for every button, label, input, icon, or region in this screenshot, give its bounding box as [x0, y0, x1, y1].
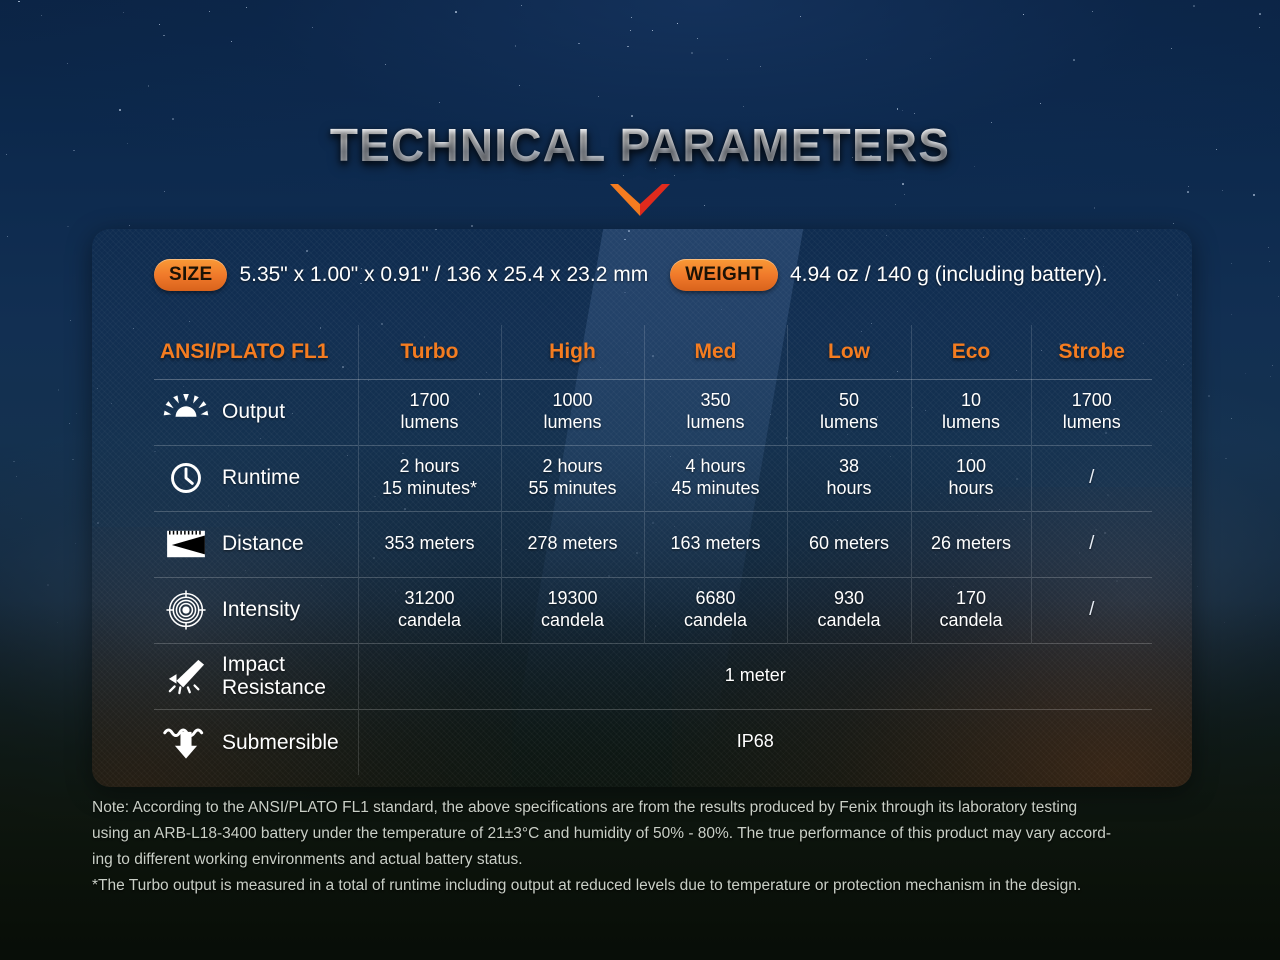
table-header-row: ANSI/PLATO FL1 Turbo High Med Low Eco St… [154, 325, 1152, 379]
row-value-cell: 930candela [787, 577, 911, 643]
row-value-cell: 1000lumens [501, 379, 644, 445]
row-value-cell: 50lumens [787, 379, 911, 445]
impact-drop-icon [162, 656, 210, 696]
footnote-line-3: ing to different working environments an… [92, 847, 1204, 873]
row-span-value: IP68 [358, 709, 1152, 775]
size-weight-strip: SIZE 5.35" x 1.00" x 0.91" / 136 x 25.4 … [92, 229, 1192, 321]
clock-icon [162, 458, 210, 498]
row-label-cell: ImpactResistance [154, 643, 358, 709]
sunburst-icon [162, 392, 210, 432]
footnote-line-1: Note: According to the ANSI/PLATO FL1 st… [92, 795, 1204, 821]
row-value-cell: 60 meters [787, 511, 911, 577]
row-value-cell: 1700lumens [358, 379, 501, 445]
footnote-line-4: *The Turbo output is measured in a total… [92, 873, 1204, 899]
row-label-text: Output [222, 400, 285, 423]
table-row: Intensity31200candela19300candela6680can… [154, 577, 1152, 643]
row-value-cell: 4 hours45 minutes [644, 445, 787, 511]
row-label-cell: Output [154, 379, 358, 445]
target-intensity-icon [162, 590, 210, 630]
row-value-cell: 6680candela [644, 577, 787, 643]
page-title: TECHNICAL PARAMETERS [0, 118, 1280, 172]
row-label-cell: Intensity [154, 577, 358, 643]
row-label-cell: Runtime [154, 445, 358, 511]
row-value-cell: 1700lumens [1031, 379, 1152, 445]
row-value-cell: 2 hours55 minutes [501, 445, 644, 511]
row-value-cell: 353 meters [358, 511, 501, 577]
column-header-standard: ANSI/PLATO FL1 [154, 325, 358, 379]
table-row: Runtime2 hours15 minutes*2 hours55 minut… [154, 445, 1152, 511]
row-label-text: ImpactResistance [222, 653, 326, 699]
row-label-text: Distance [222, 532, 304, 555]
row-value-empty: / [1031, 445, 1152, 511]
footnote-line-2: using an ARB-L18-3400 battery under the … [92, 821, 1204, 847]
row-label-text: Runtime [222, 466, 300, 489]
row-span-value: 1 meter [358, 643, 1152, 709]
row-label-cell: Distance [154, 511, 358, 577]
table-row: ImpactResistance1 meter [154, 643, 1152, 709]
row-value-cell: 19300candela [501, 577, 644, 643]
column-header-strobe: Strobe [1031, 325, 1152, 379]
table-row: Distance353 meters278 meters163 meters60… [154, 511, 1152, 577]
table-body: Output1700lumens1000lumens350lumens50lum… [154, 379, 1152, 775]
row-value-cell: 38hours [787, 445, 911, 511]
row-value-cell: 10lumens [911, 379, 1031, 445]
row-value-cell: 100hours [911, 445, 1031, 511]
row-label-text: Intensity [222, 598, 300, 621]
row-value-cell: 31200candela [358, 577, 501, 643]
column-header-eco: Eco [911, 325, 1031, 379]
size-value: 5.35" x 1.00" x 0.91" / 136 x 25.4 x 23.… [239, 263, 648, 287]
column-header-med: Med [644, 325, 787, 379]
column-header-turbo: Turbo [358, 325, 501, 379]
row-value-cell: 26 meters [911, 511, 1031, 577]
table-row: Output1700lumens1000lumens350lumens50lum… [154, 379, 1152, 445]
column-header-low: Low [787, 325, 911, 379]
size-badge: SIZE [154, 259, 227, 291]
column-header-high: High [501, 325, 644, 379]
weight-value: 4.94 oz / 140 g (including battery). [790, 263, 1108, 287]
footnotes: Note: According to the ANSI/PLATO FL1 st… [92, 795, 1204, 899]
row-value-cell: 170candela [911, 577, 1031, 643]
row-value-cell: 350lumens [644, 379, 787, 445]
table-row: SubmersibleIP68 [154, 709, 1152, 775]
weight-badge: WEIGHT [670, 259, 778, 291]
row-value-empty: / [1031, 577, 1152, 643]
row-label-cell: Submersible [154, 709, 358, 775]
row-value-cell: 278 meters [501, 511, 644, 577]
submersible-icon [162, 722, 210, 762]
row-value-cell: 163 meters [644, 511, 787, 577]
row-label-text: Submersible [222, 731, 339, 754]
specifications-table: ANSI/PLATO FL1 Turbo High Med Low Eco St… [154, 325, 1152, 775]
beam-distance-icon [162, 524, 210, 564]
row-value-empty: / [1031, 511, 1152, 577]
chevron-down-icon [610, 182, 670, 216]
row-value-cell: 2 hours15 minutes* [358, 445, 501, 511]
spec-panel: SIZE 5.35" x 1.00" x 0.91" / 136 x 25.4 … [92, 229, 1192, 787]
